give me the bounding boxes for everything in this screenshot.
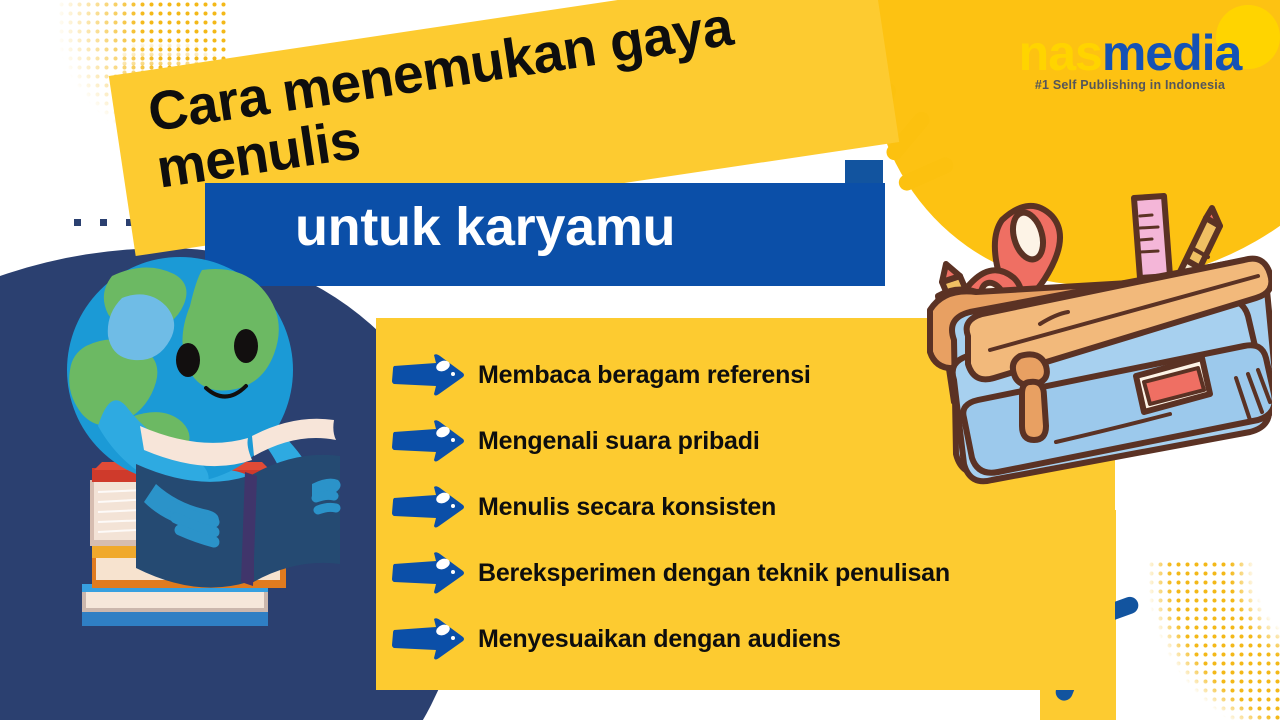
list-item: Bereksperimen dengan teknik penulisan [392, 544, 1102, 602]
logo-wordmark: nasmedia [996, 28, 1264, 78]
halftone-dots-bottom-right [1120, 560, 1280, 720]
brand-logo: nasmedia #1 Self Publishing in Indonesia [996, 28, 1264, 92]
list-item-label: Bereksperimen dengan teknik penulisan [478, 559, 950, 588]
logo-word-media: media [1102, 25, 1242, 81]
logo-tagline: #1 Self Publishing in Indonesia [996, 79, 1264, 92]
list-item-label: Mengenali suara pribadi [478, 427, 760, 456]
pencil-case-illustration [920, 180, 1272, 502]
arrow-right-icon [392, 551, 466, 595]
arrow-right-icon [392, 353, 466, 397]
list-item-label: Membaca beragam referensi [478, 361, 811, 390]
arrow-right-icon [392, 419, 466, 463]
arrow-right-icon [392, 485, 466, 529]
list-item-label: Menyesuaikan dengan audiens [478, 625, 841, 654]
arrow-right-icon [392, 617, 466, 661]
list-item: Menyesuaikan dengan audiens [392, 610, 1102, 668]
ruler-icon [1134, 196, 1170, 278]
list-item-label: Menulis secara konsisten [478, 493, 776, 522]
infographic-poster: Cara menemukan gaya menulis untuk karyam… [0, 0, 1280, 720]
logo-word-nas: nas [1019, 25, 1102, 81]
globe-character-illustration [40, 240, 390, 640]
